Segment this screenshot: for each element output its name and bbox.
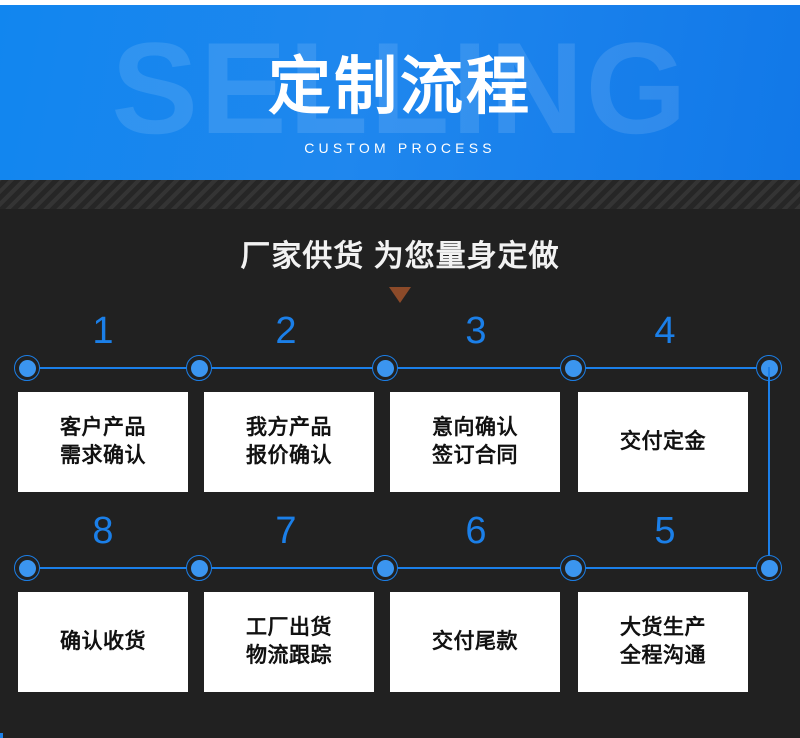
- step-number-8: 8: [73, 505, 133, 557]
- step-number-3: 3: [446, 305, 506, 357]
- timeline-node-4[interactable]: [560, 355, 586, 381]
- header-banner: SELLING 定制流程 CUSTOM PROCESS: [0, 5, 800, 180]
- step-card-2[interactable]: 我方产品 报价确认: [204, 392, 374, 492]
- step-card-3-label: 意向确认 签订合同: [432, 414, 518, 470]
- striped-divider: [0, 180, 800, 209]
- step-card-6[interactable]: 交付尾款: [390, 592, 560, 692]
- timeline-node-5[interactable]: [560, 555, 586, 581]
- timeline-node-3[interactable]: [372, 355, 398, 381]
- page-title: 定制流程: [0, 47, 800, 127]
- step-card-3[interactable]: 意向确认 签订合同: [390, 392, 560, 492]
- section-heading: 厂家供货 为您量身定做: [0, 236, 800, 278]
- timeline-node-2[interactable]: [186, 355, 212, 381]
- step-card-8[interactable]: 确认收货: [18, 592, 188, 692]
- step-number-5: 5: [635, 505, 695, 557]
- timeline-node-8[interactable]: [14, 555, 40, 581]
- corner-accent-mark: [0, 733, 3, 738]
- step-number-7: 7: [256, 505, 316, 557]
- timeline-node-6[interactable]: [372, 555, 398, 581]
- step-card-2-label: 我方产品 报价确认: [246, 414, 332, 470]
- timeline-node-row2-end[interactable]: [756, 555, 782, 581]
- step-card-5[interactable]: 大货生产 全程沟通: [578, 592, 748, 692]
- step-card-7-label: 工厂出货 物流跟踪: [246, 614, 332, 670]
- flow-row-2: 8 7 6 5 确认收货 工厂出货 物流跟踪 交付尾款 大货生产 全程沟通: [0, 505, 800, 705]
- step-number-6: 6: [446, 505, 506, 557]
- step-card-8-label: 确认收货: [60, 628, 146, 656]
- custom-process-infographic: SELLING 定制流程 CUSTOM PROCESS 厂家供货 为您量身定做 …: [0, 0, 800, 738]
- step-card-5-label: 大货生产 全程沟通: [620, 614, 706, 670]
- step-number-2: 2: [256, 305, 316, 357]
- step-card-4-label: 交付定金: [620, 428, 706, 456]
- caret-down-icon: [389, 287, 411, 303]
- step-card-1[interactable]: 客户产品 需求确认: [18, 392, 188, 492]
- flow-row-1: 1 2 3 4 客户产品 需求确认 我方产品 报价确认 意向确认 签订合同 交付…: [0, 305, 800, 505]
- timeline-node-7[interactable]: [186, 555, 212, 581]
- page-subtitle: CUSTOM PROCESS: [0, 138, 800, 158]
- process-section: 厂家供货 为您量身定做 1 2 3 4 客户产品 需求确认 我方产品 报价确认 …: [0, 209, 800, 738]
- step-number-1: 1: [73, 305, 133, 357]
- step-number-4: 4: [635, 305, 695, 357]
- step-card-6-label: 交付尾款: [432, 628, 518, 656]
- timeline-node-1[interactable]: [14, 355, 40, 381]
- timeline-track-row-1: [27, 367, 769, 369]
- timeline-track-row-2: [27, 567, 769, 569]
- step-card-7[interactable]: 工厂出货 物流跟踪: [204, 592, 374, 692]
- step-card-1-label: 客户产品 需求确认: [60, 414, 146, 470]
- step-card-4[interactable]: 交付定金: [578, 392, 748, 492]
